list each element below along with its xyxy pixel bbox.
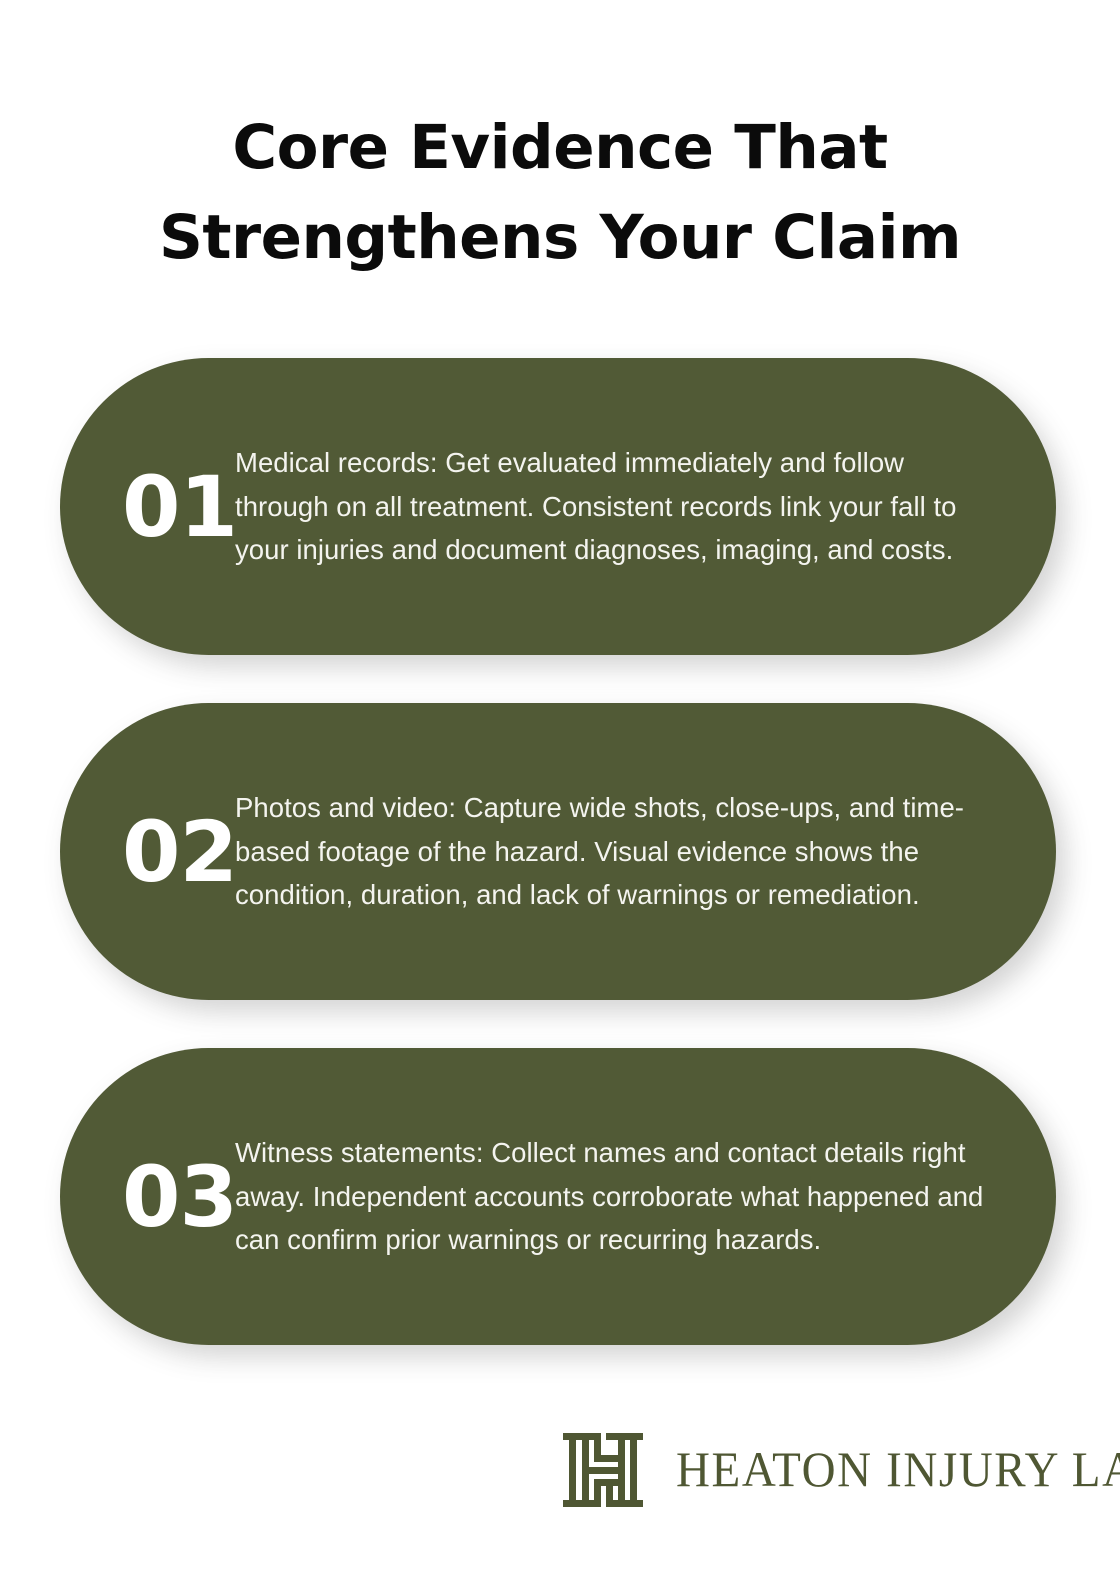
page-header: Core Evidence That Strengthens Your Clai…	[0, 103, 1120, 283]
card-number-badge: 03	[60, 1155, 235, 1239]
card-body-text: Medical records: Get evaluated immediate…	[235, 441, 1056, 572]
evidence-card: 01 Medical records: Get evaluated immedi…	[60, 358, 1056, 655]
card-number-badge: 01	[60, 465, 235, 549]
evidence-card-list: 01 Medical records: Get evaluated immedi…	[60, 358, 1056, 1345]
heaton-h-monogram-icon	[563, 1428, 643, 1512]
card-body-text: Witness statements: Collect names and co…	[235, 1131, 1056, 1262]
evidence-card: 02 Photos and video: Capture wide shots,…	[60, 703, 1056, 1000]
card-body-text: Photos and video: Capture wide shots, cl…	[235, 786, 1056, 917]
card-number-badge: 02	[60, 810, 235, 894]
brand-logo: HEATON INJURY LAW	[563, 1428, 1120, 1512]
evidence-card: 03 Witness statements: Collect names and…	[60, 1048, 1056, 1345]
brand-wordmark: HEATON INJURY LAW	[676, 1445, 1120, 1495]
page-title: Core Evidence That Strengthens Your Clai…	[0, 103, 1120, 283]
